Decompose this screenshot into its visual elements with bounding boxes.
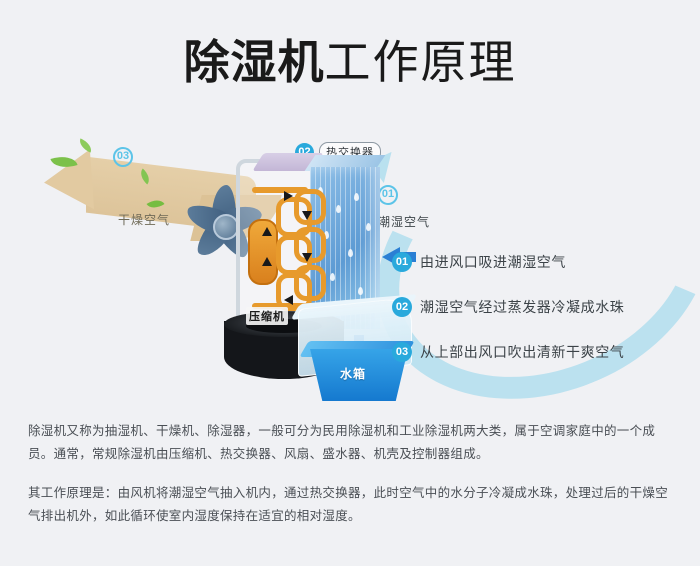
legend-text-02: 潮湿空气经过蒸发器冷凝成水珠 — [420, 297, 624, 317]
dehumidifier-unit: 水箱 压缩机 — [232, 153, 400, 383]
coil-pipe — [252, 187, 308, 193]
water-droplet — [330, 273, 335, 281]
diagram-badge-dry-air: 03 — [113, 147, 133, 167]
legend-badge-03: 03 — [392, 342, 412, 362]
water-droplet — [348, 249, 353, 257]
diagram-label-water-tank: 水箱 — [340, 365, 366, 382]
legend-text-03: 从上部出风口吹出清新干爽空气 — [420, 342, 624, 362]
water-droplet — [336, 205, 341, 213]
flow-arrow-up-icon — [262, 257, 272, 266]
legend-list: 01由进风口吸进潮湿空气 02潮湿空气经过蒸发器冷凝成水珠 03从上部出风口吹出… — [392, 252, 692, 387]
diagram-label-dry-air: 干燥空气 — [118, 211, 170, 228]
legend-item: 02潮湿空气经过蒸发器冷凝成水珠 — [392, 297, 692, 321]
legend-badge-02: 02 — [392, 297, 412, 317]
page-title-part1: 除湿机 — [184, 36, 325, 88]
body-paragraph-1: 除湿机又称为抽湿机、干燥机、除湿器，一般可分为民用除湿机和工业除湿机两大类，属于… — [28, 420, 676, 466]
page-title-part2: 工作原理 — [325, 36, 517, 88]
body-copy: 除湿机又称为抽湿机、干燥机、除湿器，一般可分为民用除湿机和工业除湿机两大类，属于… — [28, 420, 676, 528]
legend-text-01: 由进风口吸进潮湿空气 — [420, 252, 566, 272]
flow-arrow-right-icon — [284, 191, 293, 201]
legend-badge-01: 01 — [392, 252, 412, 272]
flow-arrow-down-icon — [302, 253, 312, 262]
page-title: 除湿机工作原理 — [0, 34, 700, 90]
diagram-label-compressor: 压缩机 — [246, 307, 288, 325]
body-paragraph-2: 其工作原理是：由风机将潮湿空气抽入机内，通过热交换器，此时空气中的水分子冷凝成水… — [28, 482, 676, 528]
page-root: 除湿机工作原理 03 干燥空气 02 热交换器 01 — [0, 0, 700, 566]
flow-arrow-up-icon — [262, 227, 272, 236]
water-droplet — [354, 193, 359, 201]
coil-loop — [294, 265, 326, 301]
water-droplet — [366, 223, 371, 231]
flow-arrow-down-icon — [302, 211, 312, 220]
legend-item: 03从上部出风口吹出清新干爽空气 — [392, 342, 692, 366]
legend-item: 01由进风口吸进潮湿空气 — [392, 252, 692, 276]
water-droplet — [358, 287, 363, 295]
flow-arrow-left-icon — [284, 295, 293, 305]
